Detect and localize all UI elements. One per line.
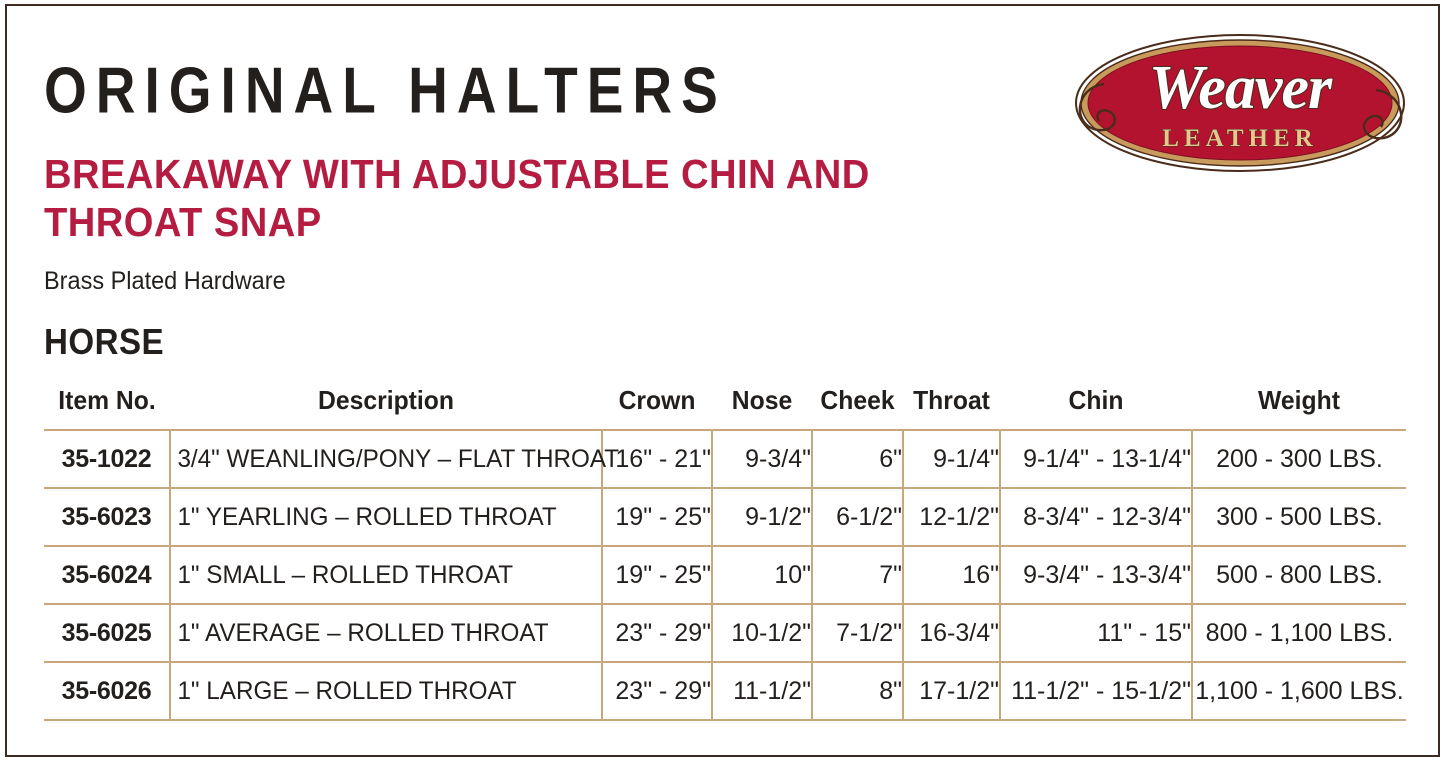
cell-cheek: 6-1/2" xyxy=(812,488,903,546)
logo-artwork: Weaver LEATHER xyxy=(1066,22,1414,184)
table-body: 35-1022 3/4" WEANLING/PONY – FLAT THROAT… xyxy=(44,430,1406,720)
table-row: 35-6024 1" SMALL – ROLLED THROAT 19" - 2… xyxy=(44,546,1406,604)
table-row: 35-6026 1" LARGE – ROLLED THROAT 23" - 2… xyxy=(44,662,1406,720)
column-header-nose: Nose xyxy=(715,372,810,430)
cell-crown: 23" - 29" xyxy=(602,662,712,720)
column-header-throat: Throat xyxy=(905,372,997,430)
cell-chin: 9-3/4" - 13-3/4" xyxy=(1000,546,1192,604)
cell-weight: 500 - 800 LBS. xyxy=(1192,546,1406,604)
cell-weight: 1,100 - 1,600 LBS. xyxy=(1192,662,1406,720)
cell-chin: 9-1/4" - 13-1/4" xyxy=(1000,430,1192,488)
cell-throat: 17-1/2" xyxy=(903,662,1000,720)
column-header-chin: Chin xyxy=(1005,372,1187,430)
table-row: 35-1022 3/4" WEANLING/PONY – FLAT THROAT… xyxy=(44,430,1406,488)
cell-item-no: 35-1022 xyxy=(44,430,170,488)
header-block: ORIGINAL HALTERS BREAKAWAY WITH ADJUSTAB… xyxy=(44,56,1064,361)
section-heading-horse: HORSE xyxy=(44,295,982,361)
cell-chin: 11-1/2" - 15-1/2" xyxy=(1000,662,1192,720)
cell-throat: 9-1/4" xyxy=(903,430,1000,488)
cell-nose: 10" xyxy=(712,546,812,604)
cell-description: 1" AVERAGE – ROLLED THROAT xyxy=(176,604,595,662)
cell-description: 1" LARGE – ROLLED THROAT xyxy=(176,662,595,720)
cell-cheek: 6" xyxy=(812,430,903,488)
catalog-page: ORIGINAL HALTERS BREAKAWAY WITH ADJUSTAB… xyxy=(0,0,1445,761)
cell-chin: 11" - 15" xyxy=(1000,604,1192,662)
cell-nose: 9-1/2" xyxy=(712,488,812,546)
cell-cheek: 8" xyxy=(812,662,903,720)
cell-throat: 16-3/4" xyxy=(903,604,1000,662)
cell-item-no: 35-6025 xyxy=(44,604,170,662)
logo-tagline-text: LEATHER xyxy=(1162,125,1317,152)
table-row: 35-6025 1" AVERAGE – ROLLED THROAT 23" -… xyxy=(44,604,1406,662)
cell-weight: 800 - 1,100 LBS. xyxy=(1192,604,1406,662)
page-subtitle: BREAKAWAY WITH ADJUSTABLE CHIN AND THROA… xyxy=(44,114,881,246)
cell-chin: 8-3/4" - 12-3/4" xyxy=(1000,488,1192,546)
spec-table: Item No. Description Crown Nose Cheek Th… xyxy=(44,372,1406,721)
cell-description: 1" YEARLING – ROLLED THROAT xyxy=(176,488,595,546)
hardware-note: Brass Plated Hardware xyxy=(44,246,1003,295)
cell-description: 1" SMALL – ROLLED THROAT xyxy=(176,546,595,604)
cell-item-no: 35-6026 xyxy=(44,662,170,720)
logo-brand-text: Weaver xyxy=(1149,54,1333,122)
cell-description: 3/4" WEANLING/PONY – FLAT THROAT xyxy=(176,430,595,488)
cell-weight: 300 - 500 LBS. xyxy=(1192,488,1406,546)
table-header-row: Item No. Description Crown Nose Cheek Th… xyxy=(44,372,1406,430)
cell-nose: 9-3/4" xyxy=(712,430,812,488)
cell-weight: 200 - 300 LBS. xyxy=(1192,430,1406,488)
column-header-description: Description xyxy=(181,372,591,430)
cell-nose: 10-1/2" xyxy=(712,604,812,662)
cell-nose: 11-1/2" xyxy=(712,662,812,720)
cell-cheek: 7" xyxy=(812,546,903,604)
spec-table-container: Item No. Description Crown Nose Cheek Th… xyxy=(44,372,1406,721)
cell-item-no: 35-6023 xyxy=(44,488,170,546)
weaver-leather-logo: Weaver LEATHER xyxy=(1066,22,1414,184)
table-header: Item No. Description Crown Nose Cheek Th… xyxy=(44,372,1406,430)
cell-crown: 23" - 29" xyxy=(602,604,712,662)
column-header-weight: Weight xyxy=(1197,372,1400,430)
cell-cheek: 7-1/2" xyxy=(812,604,903,662)
column-header-item-no: Item No. xyxy=(47,372,167,430)
column-header-crown: Crown xyxy=(605,372,710,430)
cell-crown: 19" - 25" xyxy=(602,488,712,546)
cell-throat: 12-1/2" xyxy=(903,488,1000,546)
cell-throat: 16" xyxy=(903,546,1000,604)
table-row: 35-6023 1" YEARLING – ROLLED THROAT 19" … xyxy=(44,488,1406,546)
column-header-cheek: Cheek xyxy=(814,372,900,430)
cell-item-no: 35-6024 xyxy=(44,546,170,604)
cell-crown: 19" - 25" xyxy=(602,546,712,604)
